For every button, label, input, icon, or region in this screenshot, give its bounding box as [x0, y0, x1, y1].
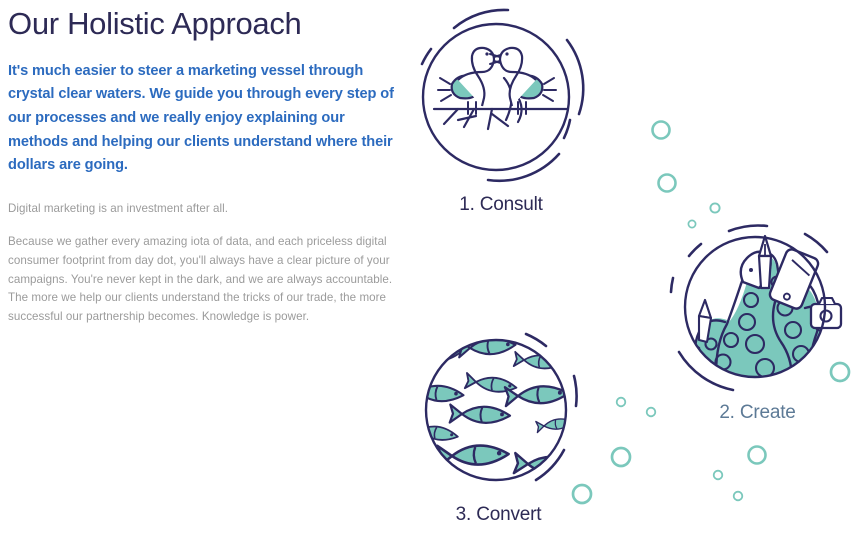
- bubble-icon: [714, 471, 723, 480]
- body-paragraph-1: Digital marketing is an investment after…: [8, 200, 400, 219]
- bubble-icon: [734, 492, 743, 501]
- bubble-icon: [749, 447, 766, 464]
- step-consult-label: 1. Consult: [396, 194, 606, 216]
- bubble-icon: [647, 408, 656, 417]
- bubble-icon: [653, 122, 670, 139]
- bubble-icon: [612, 448, 630, 466]
- octopus-with-tools-icon: [655, 212, 855, 402]
- two-birds-on-branch-icon: [396, 2, 606, 192]
- school-of-fish-icon: [396, 322, 601, 502]
- step-convert-label: 3. Convert: [396, 504, 601, 526]
- step-consult[interactable]: 1. Consult: [396, 2, 606, 216]
- body-paragraph-2: Because we gather every amazing iota of …: [8, 233, 400, 327]
- step-create[interactable]: 2. Create: [655, 212, 855, 424]
- step-convert[interactable]: 3. Convert: [396, 322, 601, 526]
- page-title: Our Holistic Approach: [8, 6, 400, 42]
- step-create-label: 2. Create: [655, 402, 855, 424]
- intro-paragraph: It's much easier to steer a marketing ve…: [8, 60, 400, 178]
- page-root: Our Holistic Approach It's much easier t…: [0, 0, 855, 542]
- bubble-icon: [617, 398, 626, 407]
- bubble-icon: [659, 175, 676, 192]
- text-column: Our Holistic Approach It's much easier t…: [8, 6, 400, 341]
